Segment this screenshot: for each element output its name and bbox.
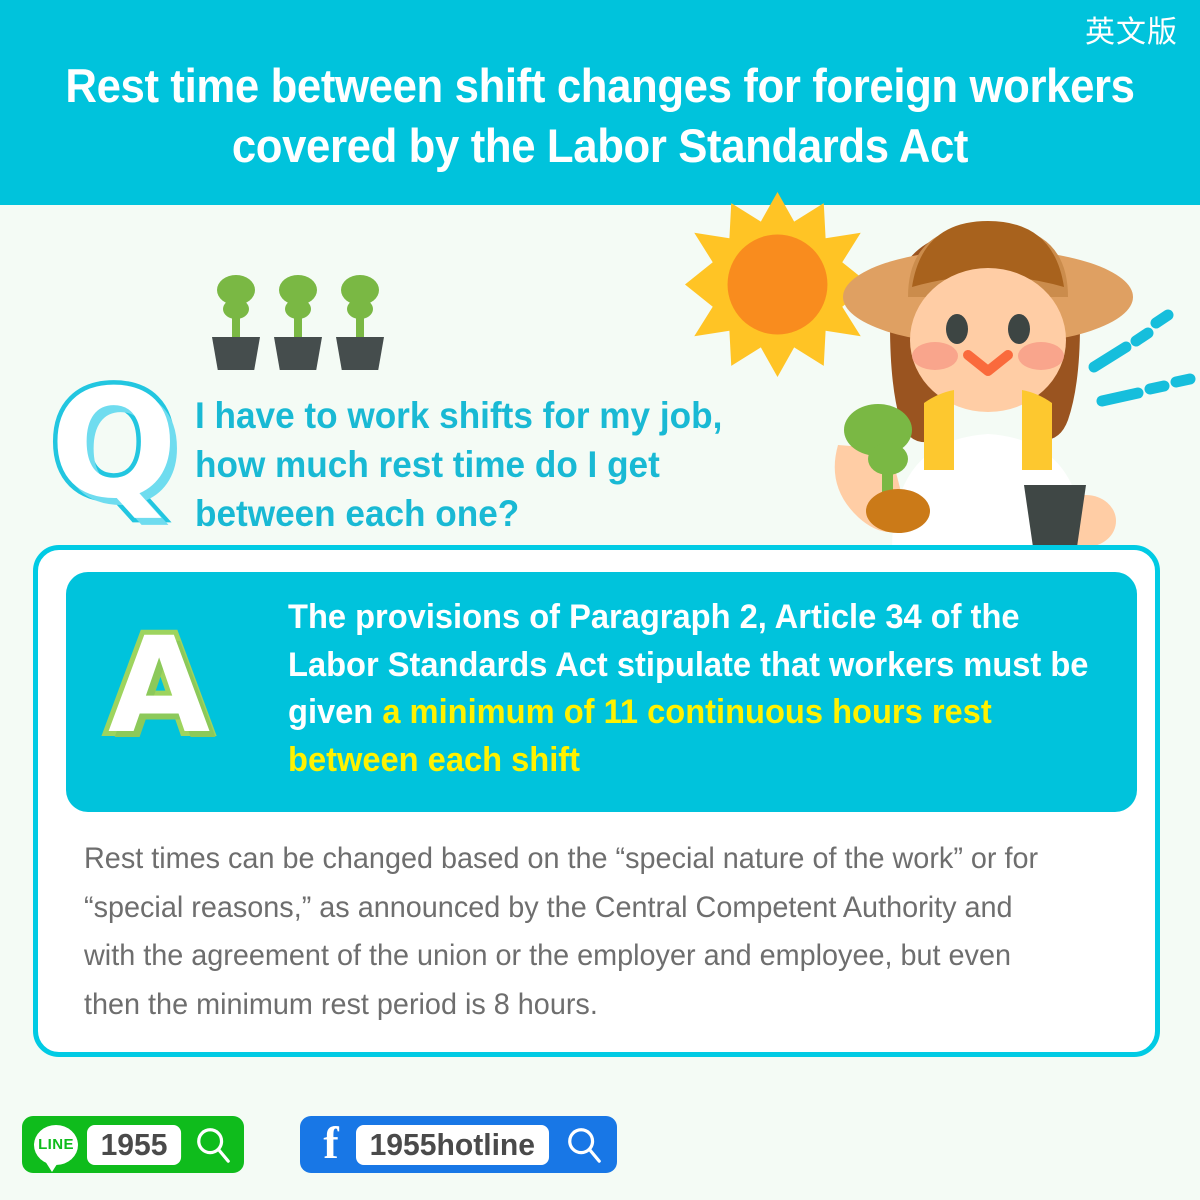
question-block: Q I have to work shifts for my job, how …: [50, 380, 810, 545]
gardener-character-icon: [820, 205, 1200, 550]
facebook-page-value: 1955hotline: [356, 1125, 549, 1165]
facebook-icon: f: [314, 1123, 348, 1167]
page-title: Rest time between shift changes for fore…: [42, 56, 1158, 176]
magnifier-icon[interactable]: [194, 1126, 232, 1164]
line-contact-pill[interactable]: LINE 1955: [22, 1116, 244, 1173]
answer-card: A The provisions of Paragraph 2, Article…: [33, 545, 1160, 1057]
plant-pot: [274, 337, 322, 370]
potted-plants-group: [210, 275, 390, 370]
language-badge: 英文版: [1085, 18, 1178, 48]
answer-text: The provisions of Paragraph 2, Article 3…: [288, 594, 1091, 784]
facebook-contact-pill[interactable]: f 1955hotline: [300, 1116, 617, 1173]
magnifier-icon[interactable]: [565, 1126, 603, 1164]
infographic-poster: 英文版 Rest time between shift changes for …: [0, 0, 1200, 1200]
question-marker: Q: [50, 370, 178, 520]
plant-stem: [356, 313, 364, 341]
potted-plant-icon: [334, 275, 386, 370]
line-icon-label: LINE: [38, 1136, 74, 1153]
footer-bar: LINE 1955 f 1955hotline: [0, 1098, 1200, 1200]
answer-marker: A: [108, 620, 210, 752]
potted-plant-icon: [210, 275, 262, 370]
line-id-value: 1955: [87, 1125, 181, 1165]
plant-stem: [294, 313, 302, 341]
plant-pot: [336, 337, 384, 370]
note-text: Rest times can be changed based on the “…: [84, 835, 1054, 1029]
plant-stem: [232, 313, 240, 341]
answer-highlight-box: A The provisions of Paragraph 2, Article…: [66, 572, 1137, 812]
potted-plant-icon: [272, 275, 324, 370]
question-text: I have to work shifts for my job, how mu…: [195, 392, 784, 538]
plant-pot: [212, 337, 260, 370]
answer-text-highlight: a minimum of 11 continuous hours rest be…: [288, 693, 992, 779]
line-icon: LINE: [34, 1125, 78, 1165]
header-banner: 英文版 Rest time between shift changes for …: [0, 0, 1200, 205]
